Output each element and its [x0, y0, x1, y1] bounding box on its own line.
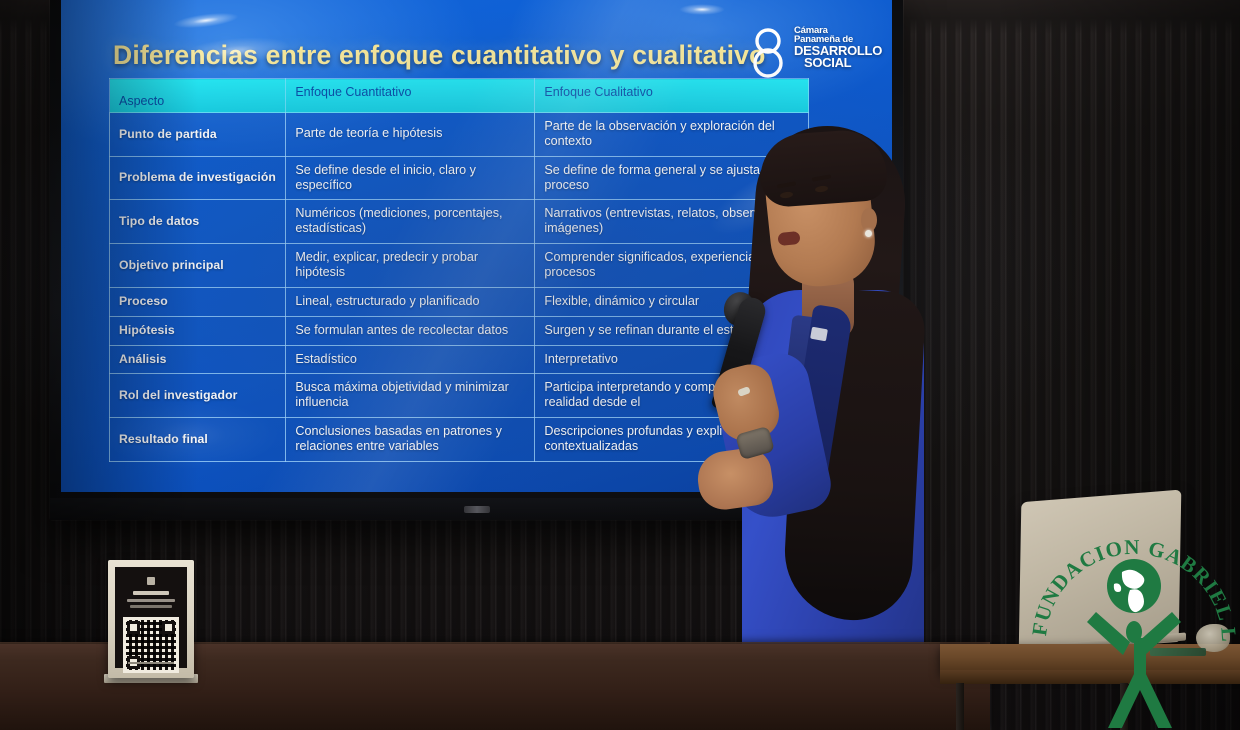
qr-sign-frame[interactable]	[108, 560, 194, 678]
qr-finder-pattern	[162, 621, 175, 634]
qr-code-icon[interactable]	[123, 617, 179, 673]
table-leg	[956, 683, 964, 730]
qr-sign-heading	[133, 591, 169, 595]
qr-sign-logo	[147, 577, 155, 585]
speaker-person	[694, 120, 924, 730]
qr-finder-pattern	[127, 621, 140, 634]
hand-gesturing	[694, 445, 775, 513]
hair-fringe	[758, 128, 889, 209]
table-leg	[1120, 683, 1128, 730]
laptop[interactable]	[1019, 490, 1182, 655]
presentation-photo-scene: Diferencias entre enfoque cuantitativo y…	[0, 0, 1240, 730]
qr-sign-subtext	[130, 605, 172, 608]
name-badge	[810, 327, 828, 342]
desk-notebook	[1150, 648, 1206, 656]
earring	[865, 230, 872, 237]
qr-sign-mat	[115, 567, 187, 668]
qr-sign-footer	[128, 662, 174, 664]
qr-sign-subtext	[127, 599, 175, 602]
wooden-table-edge	[940, 670, 1240, 684]
ear	[861, 208, 877, 232]
